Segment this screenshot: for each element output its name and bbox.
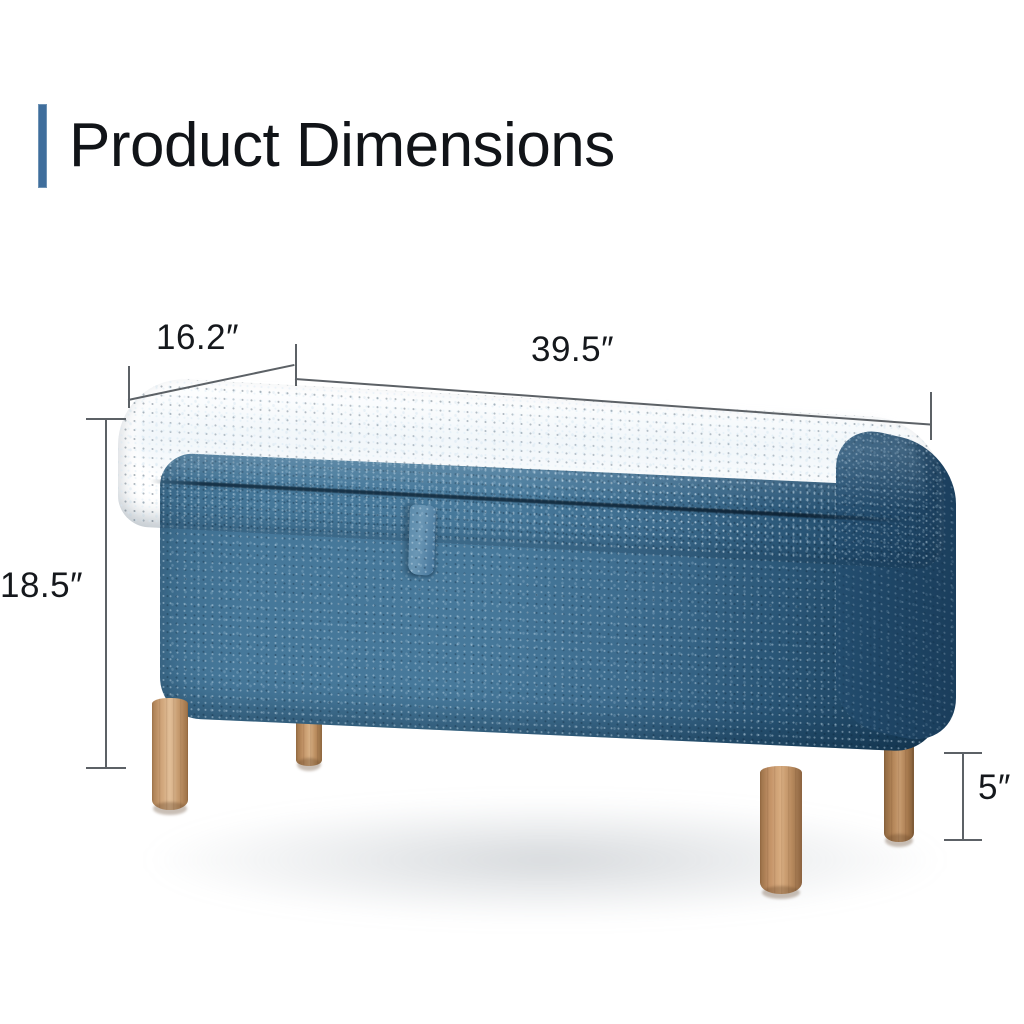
bench-end-panel <box>836 422 956 750</box>
boucle-fabric-texture <box>836 422 956 750</box>
dimension-tick-height-top <box>86 418 126 420</box>
dimension-line-depth <box>128 364 295 401</box>
leg-wood-grain <box>760 766 802 894</box>
dimension-label-leg-height: 5″ <box>978 768 1011 808</box>
title-accent-bar <box>38 104 47 188</box>
leg-base-shadow <box>153 802 186 815</box>
leg-front-left <box>152 698 188 810</box>
pull-tab-shadow <box>404 503 418 578</box>
leg-wood-grain <box>296 700 322 766</box>
boucle-fabric-texture <box>408 504 436 576</box>
bench-front-panel <box>160 452 940 752</box>
dimension-label-depth: 16.2″ <box>156 318 239 358</box>
dimension-tick-leg-bottom <box>944 839 982 841</box>
page-title-block: Product Dimensions <box>38 104 615 188</box>
page-title: Product Dimensions <box>69 104 615 188</box>
dimension-line-leg-height <box>962 752 964 840</box>
fabric-pull-tab <box>408 504 436 576</box>
leg-back-left <box>296 700 322 766</box>
leg-front-right <box>760 766 802 894</box>
leg-base-shadow <box>762 886 801 899</box>
dimension-tick-height-bottom <box>86 767 126 769</box>
dimension-line-height <box>105 418 107 768</box>
dimension-label-height: 18.5″ <box>0 566 83 606</box>
bench-lid <box>118 376 944 571</box>
leg-wood-grain <box>884 742 914 842</box>
leg-wood-grain <box>152 698 188 810</box>
dimension-tick-leg-top <box>944 752 982 754</box>
dimension-tick-depth-start <box>128 366 130 408</box>
leg-base-shadow <box>297 758 321 771</box>
lid-seam-line <box>150 479 910 523</box>
lid-top-highlight <box>136 381 926 514</box>
leg-back-right <box>884 742 914 842</box>
leg-base-shadow <box>885 834 913 847</box>
floor-shadow <box>150 800 940 920</box>
product-dimensions-infographic: Product Dimensions <box>0 0 1024 1024</box>
dimension-label-width: 39.5″ <box>531 330 614 370</box>
dimension-line-width <box>295 378 930 425</box>
dimension-tick-width-end <box>930 392 932 440</box>
boucle-fabric-texture <box>118 376 944 571</box>
boucle-fabric-texture <box>160 452 940 752</box>
